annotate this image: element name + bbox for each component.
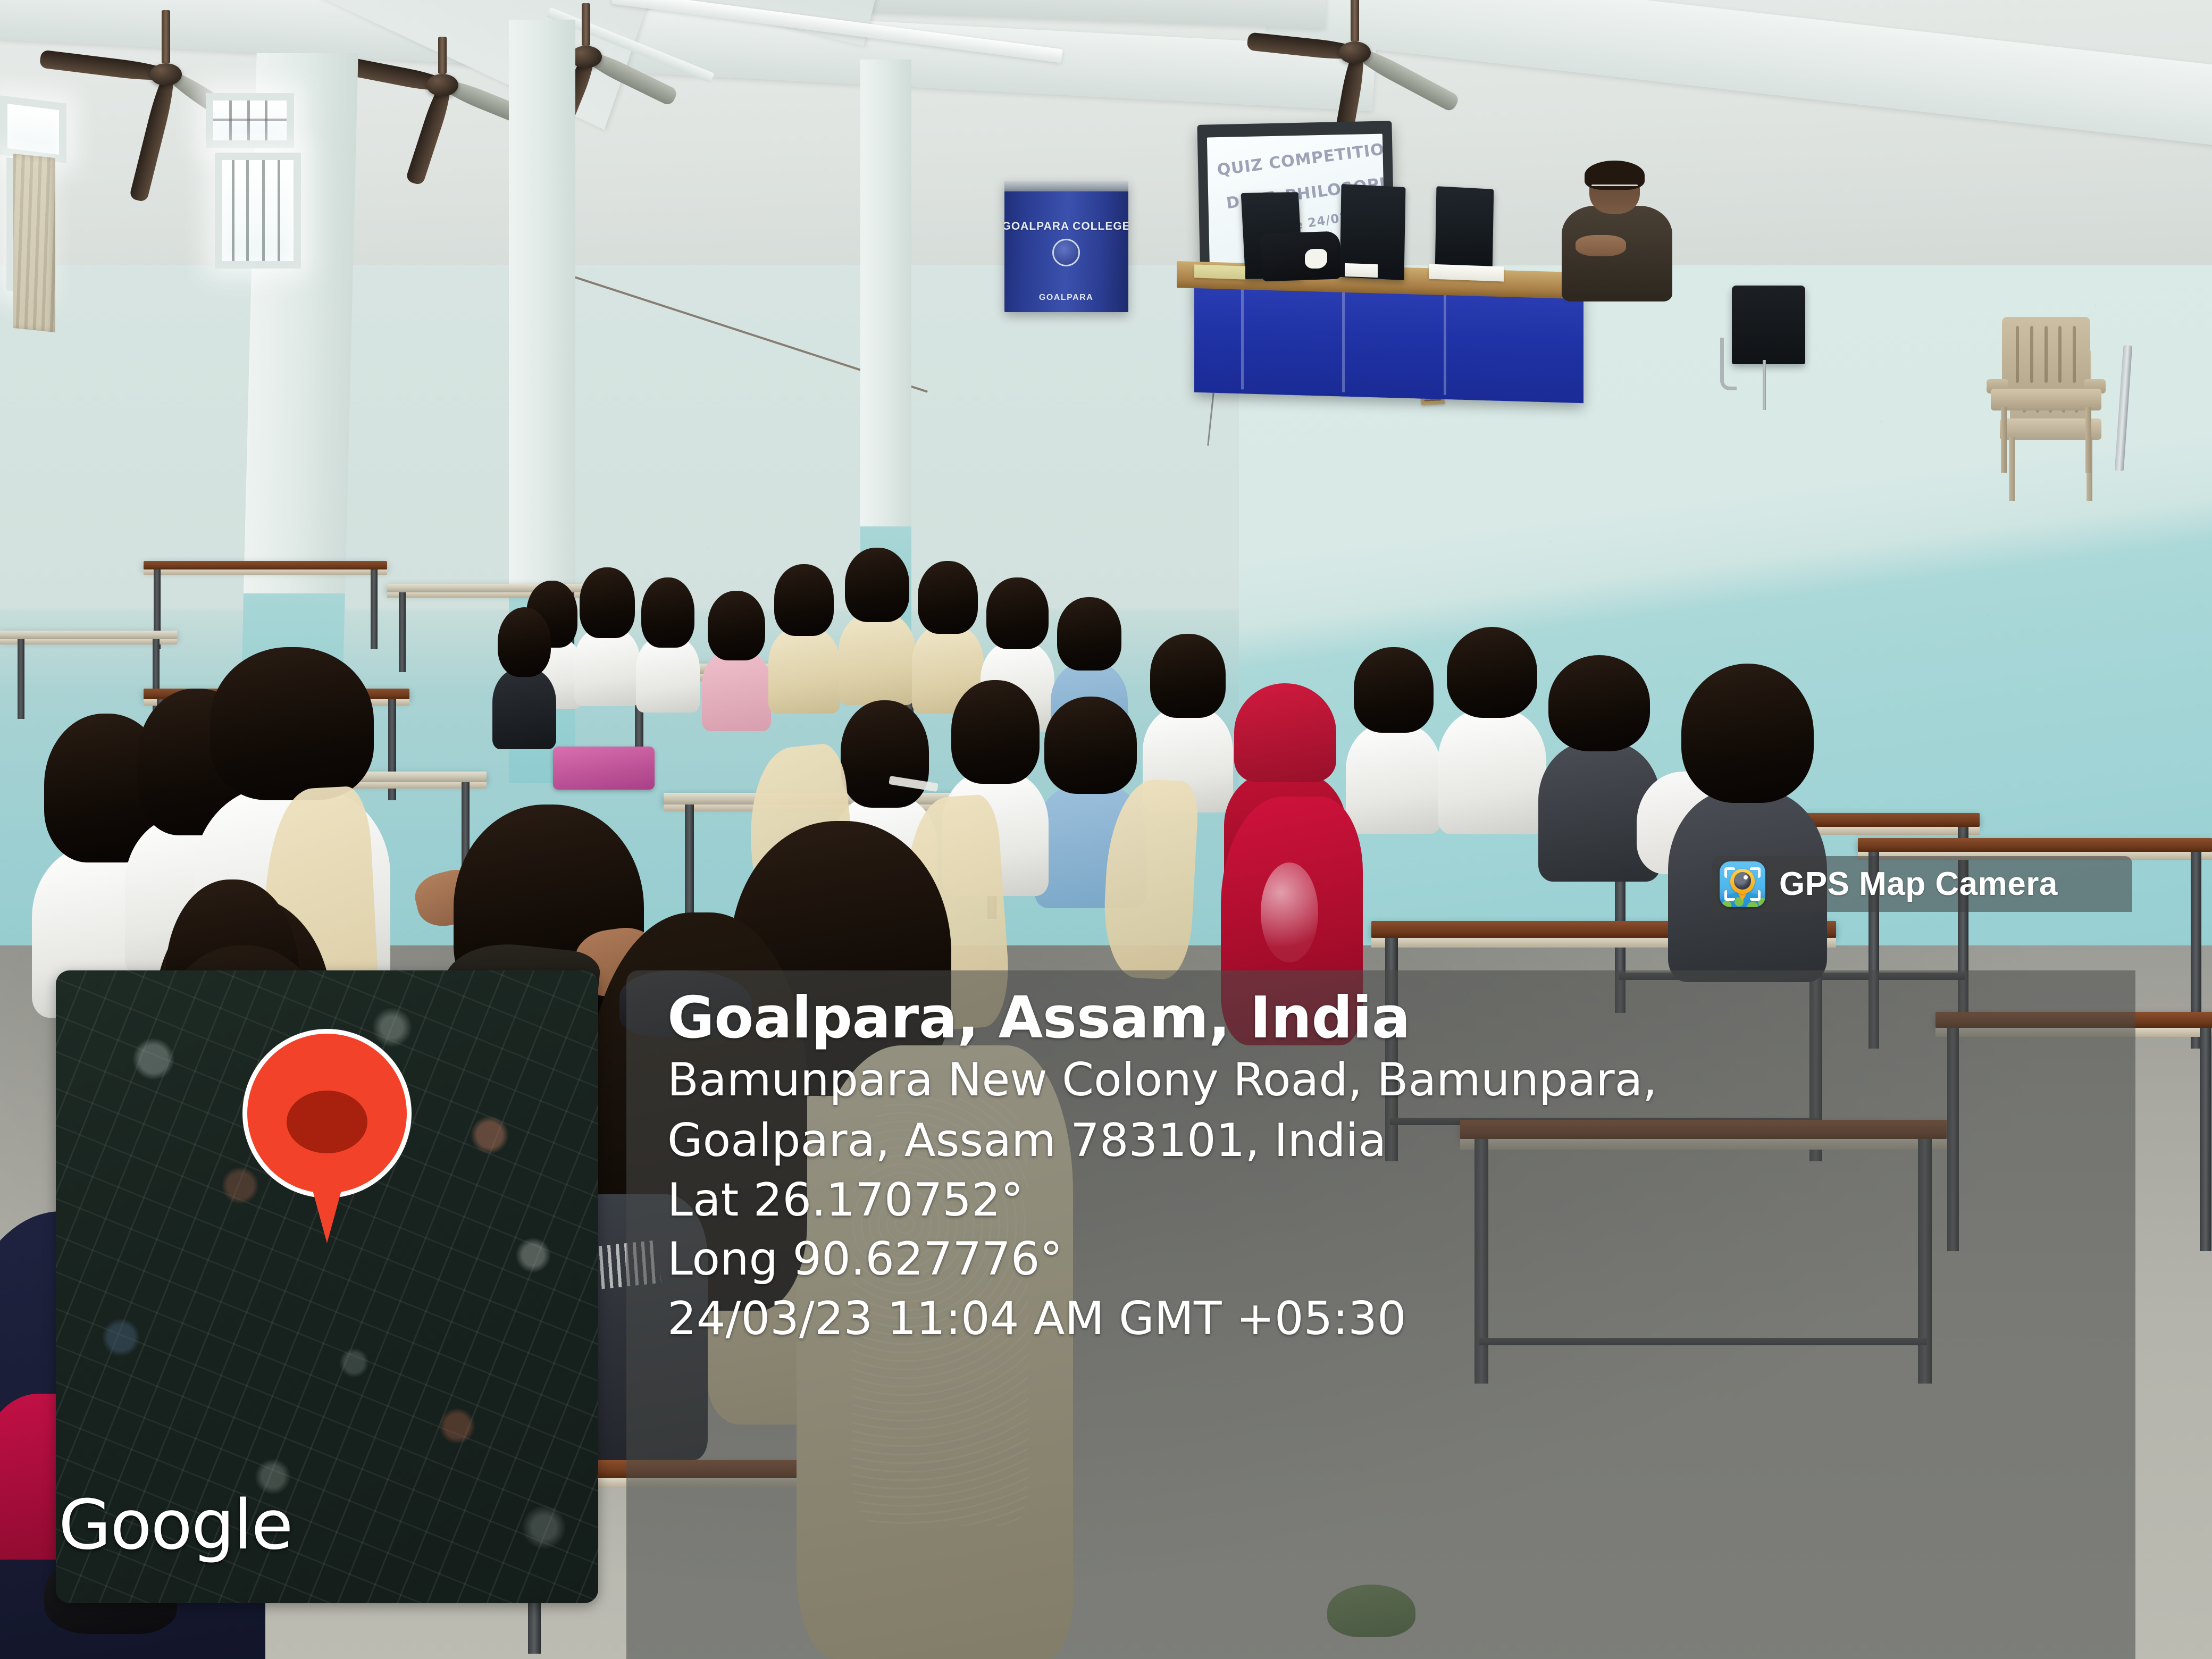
fan-rod xyxy=(162,10,170,63)
bench-top xyxy=(1858,838,2212,852)
student-hair xyxy=(1150,634,1225,718)
screenshot-root: GOALPARA COLLEGE GOALPARA QUIZ COMPETITI… xyxy=(0,0,2212,1659)
gps-map-camera-watermark: GPS Map Camera xyxy=(1712,856,2132,912)
laptop xyxy=(1435,186,1494,274)
student xyxy=(641,577,694,710)
window-bars xyxy=(222,160,294,261)
plastic-chair xyxy=(1991,317,2101,473)
student-hair xyxy=(641,577,694,648)
student-bench xyxy=(144,561,387,644)
student-body xyxy=(574,627,641,706)
student-body xyxy=(839,613,916,705)
whiteboard-line-1: QUIZ COMPETITION xyxy=(1216,138,1385,180)
student xyxy=(1447,627,1538,843)
ceiling-fan xyxy=(111,10,221,77)
banner-top-bar xyxy=(1004,181,1128,191)
gps-map-camera-icon xyxy=(1720,861,1765,907)
student-hair xyxy=(845,548,909,623)
window-upper xyxy=(206,93,294,148)
student-hair xyxy=(986,577,1048,649)
student-hair xyxy=(1354,647,1434,733)
hijab-ornament xyxy=(1261,862,1318,962)
viewfinder-bracket-icon xyxy=(1724,867,1735,878)
college-banner: GOALPARA COLLEGE GOALPARA xyxy=(1004,181,1128,312)
bench-top xyxy=(0,631,177,639)
viewfinder-bracket-icon xyxy=(1750,890,1761,901)
chair-seat xyxy=(1991,389,2101,410)
student-hair xyxy=(774,564,834,636)
student xyxy=(1548,655,1650,895)
student-hair xyxy=(1447,627,1538,717)
office-chair xyxy=(1732,286,1805,395)
app-name-label: GPS Map Camera xyxy=(1779,865,2058,903)
student-hair xyxy=(1044,697,1137,794)
student-hair xyxy=(1681,664,1814,803)
location-text-block: Goalpara, Assam, India Bamunpara New Col… xyxy=(667,986,2135,1349)
student-hair xyxy=(1057,597,1121,671)
student-hair xyxy=(210,647,374,800)
student-body xyxy=(1346,723,1442,834)
student-body xyxy=(702,650,771,731)
location-longitude: Long 90.627776° xyxy=(667,1230,2135,1289)
fan-hub xyxy=(1339,41,1371,64)
student-hair xyxy=(580,567,635,638)
student-hair xyxy=(918,561,977,634)
student-body xyxy=(492,668,556,749)
curtain xyxy=(13,154,55,332)
map-pin-center-dot xyxy=(287,1091,367,1153)
location-address-line-1: Bamunpara New Colony Road, Bamunpara, xyxy=(667,1051,2135,1110)
window-main xyxy=(215,153,301,269)
window-bars xyxy=(213,100,287,140)
ceiling-fan xyxy=(398,37,487,93)
ceiling-fan xyxy=(1305,0,1404,50)
pencil-case xyxy=(553,747,655,790)
fan-rod xyxy=(438,37,447,74)
bag-on-desk xyxy=(1260,231,1342,282)
student-hair xyxy=(1548,655,1650,751)
fan-rod xyxy=(1351,0,1359,41)
student-hair xyxy=(498,607,551,677)
location-timestamp: 24/03/23 11:04 AM GMT +05:30 xyxy=(667,1289,2135,1349)
viewfinder-bracket-icon xyxy=(1724,890,1735,901)
student-body xyxy=(1438,709,1547,834)
student xyxy=(580,567,635,703)
teacher-hands xyxy=(1576,235,1626,256)
viewfinder-bracket-icon xyxy=(1750,867,1761,878)
google-watermark: Google xyxy=(58,1486,292,1565)
fan-hub xyxy=(426,74,458,96)
fan-rod xyxy=(582,3,590,46)
student-body xyxy=(768,627,840,714)
banner-place: GOALPARA xyxy=(1039,293,1093,303)
map-thumbnail[interactable]: Google xyxy=(56,970,598,1603)
chair-stem xyxy=(1763,360,1766,410)
bench-top xyxy=(144,561,387,569)
hijab xyxy=(1234,683,1336,782)
window xyxy=(0,96,66,164)
student-hair xyxy=(841,700,929,808)
chair-back xyxy=(2002,317,2090,392)
student xyxy=(498,607,551,747)
tissue-on-desk xyxy=(1305,249,1327,269)
papers-on-desk xyxy=(1345,263,1378,278)
papers-on-desk xyxy=(1194,265,1245,280)
ceiling-beam xyxy=(1268,0,2212,183)
college-emblem xyxy=(1052,239,1080,266)
teacher-glasses xyxy=(1591,185,1638,191)
fan-hub xyxy=(150,63,182,86)
student xyxy=(774,564,834,714)
student-hair xyxy=(708,591,765,660)
location-address-line-2: Goalpara, Assam 783101, India xyxy=(667,1111,2135,1171)
student-hair xyxy=(951,680,1040,784)
student xyxy=(708,591,765,730)
student xyxy=(845,548,909,707)
camera-lens-icon xyxy=(1734,872,1752,890)
chair-back xyxy=(1732,286,1805,364)
student xyxy=(1354,647,1434,838)
chair-arm xyxy=(1720,338,1736,390)
teacher-figure xyxy=(1560,166,1674,299)
papers-on-desk xyxy=(1429,264,1504,282)
student-vest xyxy=(1681,664,1814,995)
location-title: Goalpara, Assam, India xyxy=(667,986,2135,1051)
banner-org-name: GOALPARA COLLEGE xyxy=(1004,220,1128,233)
location-latitude: Lat 26.170752° xyxy=(667,1171,2135,1230)
